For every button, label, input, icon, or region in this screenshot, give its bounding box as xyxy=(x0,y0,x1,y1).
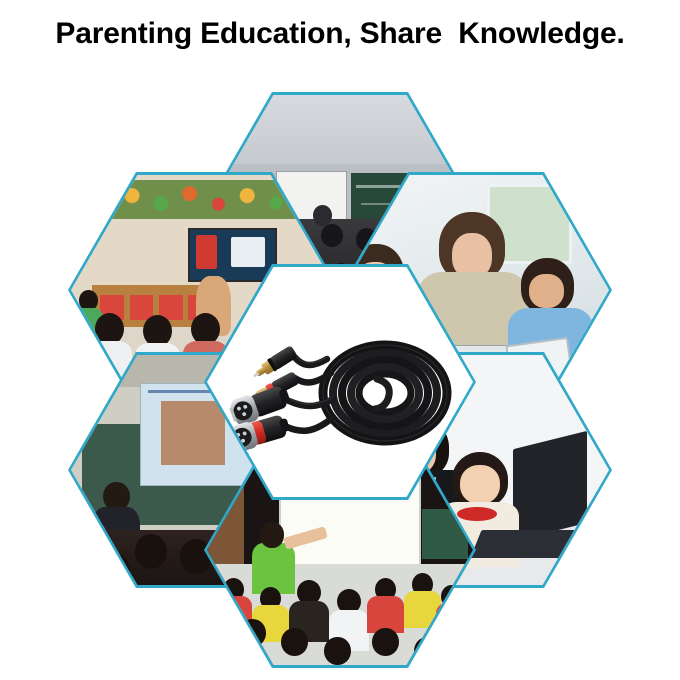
hexagon-collage xyxy=(0,0,680,680)
product-banner: Parenting Education, Share Knowledge. xyxy=(0,0,680,680)
